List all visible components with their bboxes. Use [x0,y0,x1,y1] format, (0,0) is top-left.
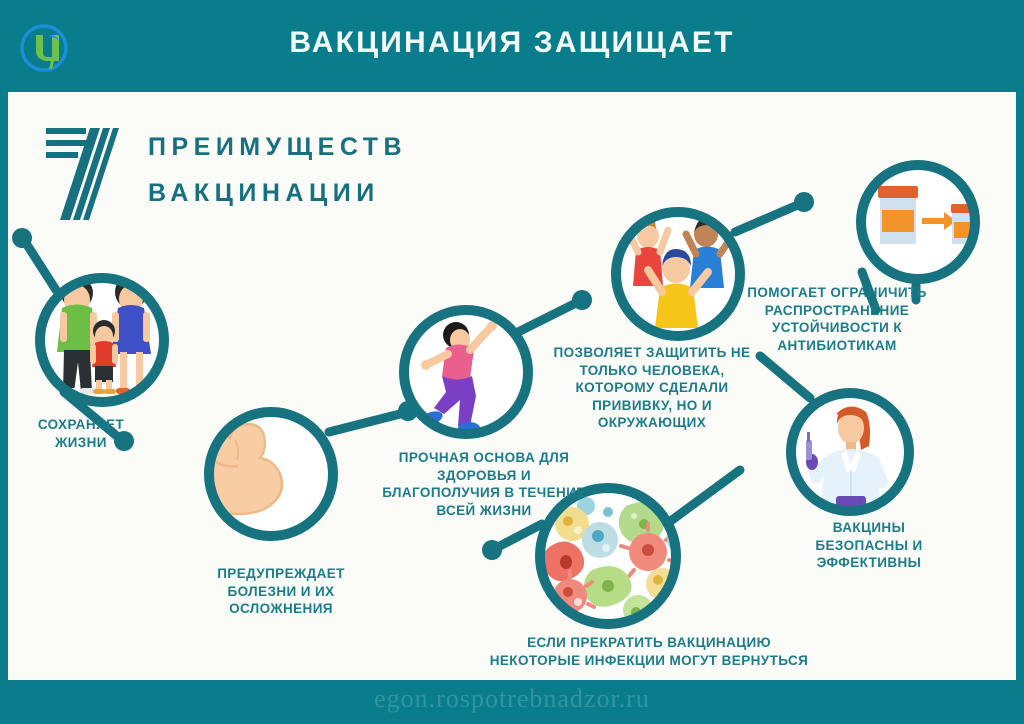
benefit-caption-3: ПРОЧНАЯ ОСНОВА ДЛЯ ЗДОРОВЬЯ И БЛАГОПОЛУЧ… [366,449,602,519]
benefit-node-5[interactable] [861,165,979,279]
benefit-node-6[interactable] [791,393,909,514]
benefits-flow-diagram [0,0,1024,724]
benefit-node-1[interactable] [40,275,164,402]
benefit-node-4[interactable] [616,212,740,336]
benefit-node-3[interactable] [404,310,528,434]
benefit-caption-4: ПОЗВОЛЯЕТ ЗАЩИТИТЬ НЕ ТОЛЬКО ЧЕЛОВЕКА, К… [544,344,760,432]
footer-watermark: egon.rospotrebnadzor.ru [0,684,1024,714]
benefit-caption-5: ПОМОГАЕТ ОГРАНИЧИТЬ РАСПРОСТРАНЕНИЕ УСТО… [734,284,940,354]
benefit-node-2[interactable] [194,412,333,536]
benefit-caption-2: ПРЕДУПРЕЖДАЕТ БОЛЕЗНИ И ИХ ОСЛОЖНЕНИЯ [176,565,386,618]
benefit-caption-1: СОХРАНЯЕТ ЖИЗНИ [6,416,156,451]
infographic-root: ВАКЦИНАЦИЯ ЗАЩИЩАЕТ ПРЕИМУЩЕСТВ ВАКЦИНАЦ… [0,0,1024,724]
benefit-caption-6: ВАКЦИНЫ БЕЗОПАСНЫ И ЭФФЕКТИВНЫ [776,519,962,572]
benefit-caption-7: ЕСЛИ ПРЕКРАТИТЬ ВАКЦИНАЦИЮ НЕКОТОРЫЕ ИНФ… [466,634,832,669]
